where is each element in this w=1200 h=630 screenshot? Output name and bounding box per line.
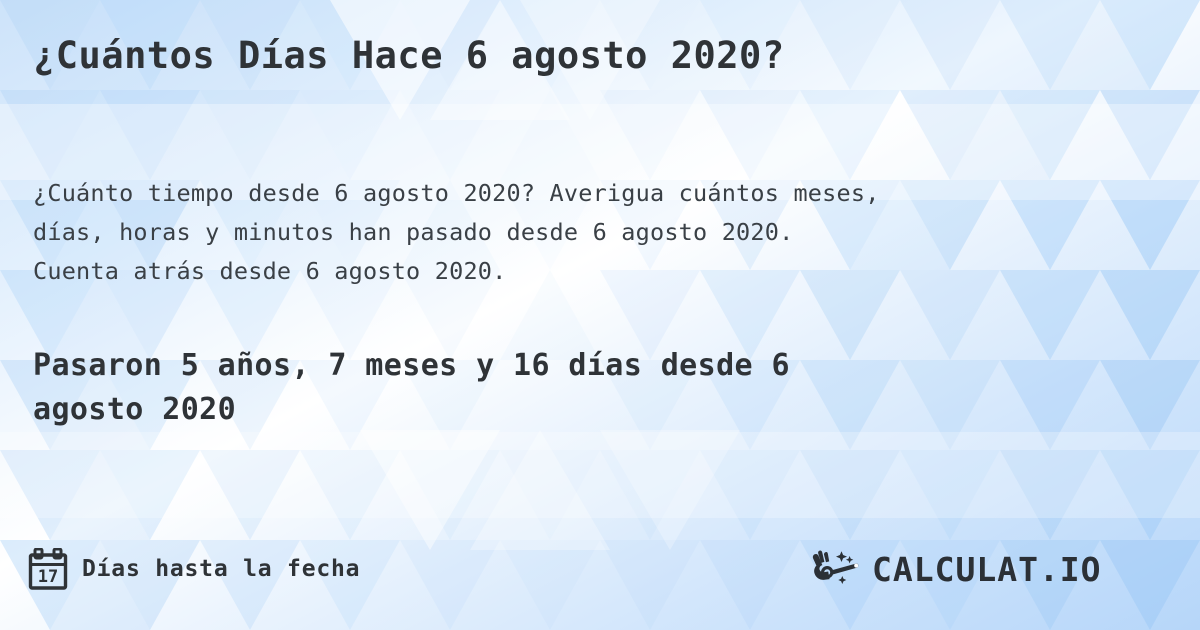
description-line-1: ¿Cuánto tiempo desde 6 agosto 2020? Aver…	[33, 174, 1183, 213]
brand-name-text: CALCULAT.IO	[872, 550, 1102, 589]
result-line-2: agosto 2020	[33, 388, 1093, 432]
description-block: ¿Cuánto tiempo desde 6 agosto 2020? Aver…	[33, 174, 1183, 291]
footer: 17 Días hasta la fecha	[0, 540, 1200, 610]
result-line-1: Pasaron 5 años, 7 meses y 16 días desde …	[33, 344, 1093, 388]
description-line-3: Cuenta atrás desde 6 agosto 2020.	[33, 252, 1183, 291]
footer-category: 17 Días hasta la fecha	[28, 548, 360, 590]
description-line-2: días, horas y minutos han pasado desde 6…	[33, 213, 1183, 252]
calendar-icon-day-number: 17	[38, 567, 58, 587]
page-title: ¿Cuántos Días Hace 6 agosto 2020?	[33, 33, 1173, 79]
calendar-17-icon: 17	[28, 548, 68, 590]
footer-category-label: Días hasta la fecha	[82, 556, 360, 582]
brand-logo[interactable]: CALCULAT.IO	[810, 548, 1172, 592]
hand-holding-magic-wand-icon	[810, 548, 862, 592]
brand-wordmark: CALCULAT.IO	[872, 550, 1172, 590]
poster-canvas: ¿Cuántos Días Hace 6 agosto 2020? ¿Cuánt…	[0, 0, 1200, 630]
result-statement: Pasaron 5 años, 7 meses y 16 días desde …	[33, 344, 1093, 432]
